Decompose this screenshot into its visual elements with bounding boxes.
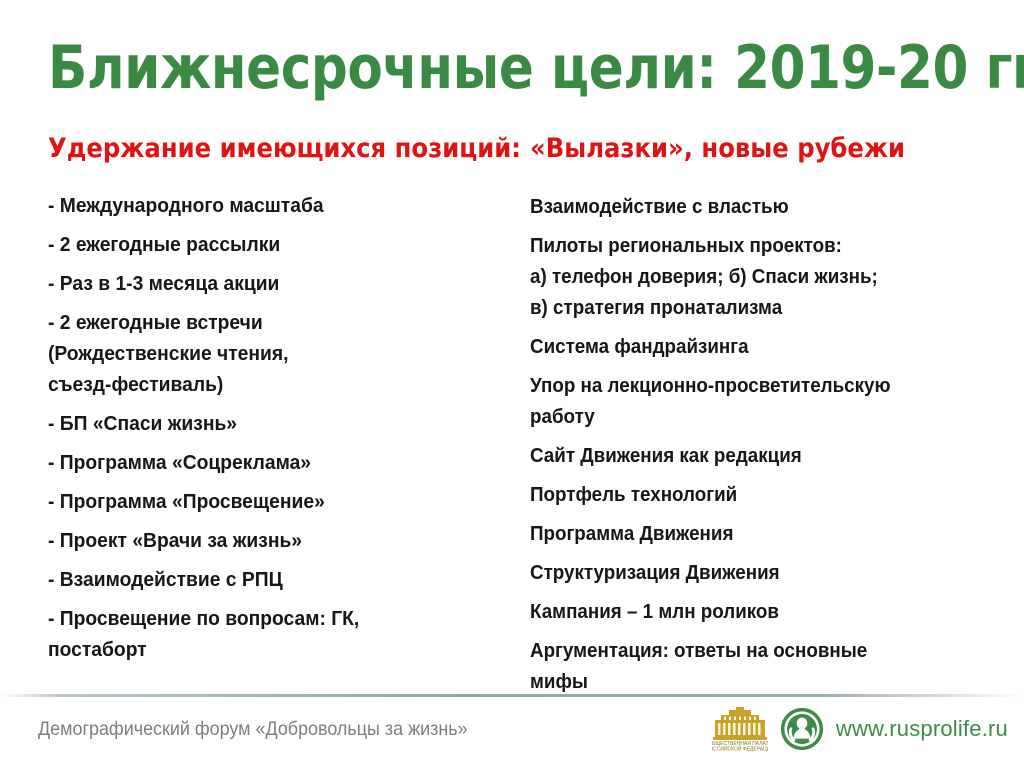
list-item: Структуризация Движения xyxy=(530,554,972,593)
left-column: Удержание имеющихся позиций: - Междунаро… xyxy=(48,132,488,669)
public-chamber-logo-icon: ОБЩЕСТВЕННАЯ ПАЛАТА РОССИЙСКОЙ ФЕДЕРАЦИИ xyxy=(712,706,768,752)
list-item: Портфель технологий xyxy=(530,476,972,515)
slide-footer: Демографический форум «Добровольцы за жи… xyxy=(0,700,1024,767)
list-item: - Просвещение по вопросам: ГК, постаборт xyxy=(48,599,462,669)
right-column: «Вылазки», новые рубежи Взаимодействие с… xyxy=(530,132,1000,702)
list-item: - 2 ежегодные рассылки xyxy=(48,225,462,264)
left-column-list: - Международного масштаба- 2 ежегодные р… xyxy=(48,186,488,669)
list-item: Пилоты региональных проектов: а) телефон… xyxy=(530,227,972,328)
list-item: Сайт Движения как редакция xyxy=(530,437,972,476)
page-title: Ближнесрочные цели: 2019-20 гг. xyxy=(48,26,856,110)
list-item: - Программа «Просвещение» xyxy=(48,482,462,521)
list-item: Упор на лекционно-просветительскую работ… xyxy=(530,367,972,437)
rusprolife-logo-icon xyxy=(780,707,824,751)
website-url[interactable]: www.rusprolife.ru xyxy=(836,707,1008,751)
list-item: Система фандрайзинга xyxy=(530,328,972,367)
list-item: - Международного масштаба xyxy=(48,186,462,225)
content-columns: Удержание имеющихся позиций: - Междунаро… xyxy=(0,132,1024,680)
list-item: - Программа «Соцреклама» xyxy=(48,443,462,482)
list-item: - Раз в 1-3 месяца акции xyxy=(48,264,462,303)
list-item: - БП «Спаси жизнь» xyxy=(48,404,462,443)
list-item: - Проект «Врачи за жизнь» xyxy=(48,521,462,560)
list-item: Кампания – 1 млн роликов xyxy=(530,593,972,632)
list-item: Программа Движения xyxy=(530,515,972,554)
list-item: - 2 ежегодные встречи (Рождественские чт… xyxy=(48,303,462,404)
list-item: Взаимодействие с властью xyxy=(530,188,972,227)
left-column-heading: Удержание имеющихся позиций: xyxy=(48,132,444,166)
right-column-list: Взаимодействие с властьюПилоты региональ… xyxy=(530,188,1000,702)
slide-canvas: Ближнесрочные цели: 2019-20 гг. Удержани… xyxy=(0,0,1024,767)
list-item: - Взаимодействие с РПЦ xyxy=(48,560,462,599)
footer-caption: Демографический форум «Добровольцы за жи… xyxy=(38,716,468,742)
footer-divider xyxy=(0,694,1024,697)
footer-logo-group: ОБЩЕСТВЕННАЯ ПАЛАТА РОССИЙСКОЙ ФЕДЕРАЦИИ… xyxy=(712,706,1008,752)
list-item: Аргументация: ответы на основные мифы xyxy=(530,632,972,702)
right-column-heading: «Вылазки», новые рубежи xyxy=(530,132,953,166)
